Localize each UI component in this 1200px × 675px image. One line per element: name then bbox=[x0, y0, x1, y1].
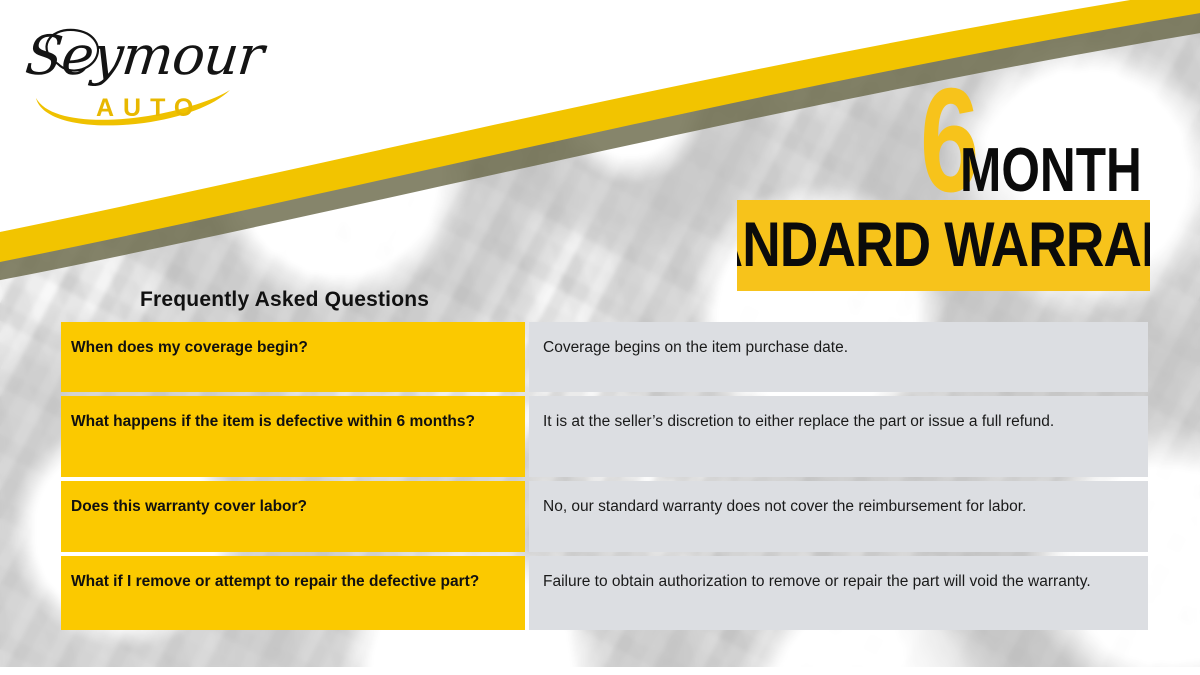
faq-answer-text: Failure to obtain authorization to remov… bbox=[543, 572, 1136, 593]
table-row: When does my coverage begin? Coverage be… bbox=[61, 322, 1148, 392]
faq-answer-text: Coverage begins on the item purchase dat… bbox=[543, 338, 1136, 359]
duration-headline: 6 MONTH bbox=[920, 78, 1188, 198]
table-row: What happens if the item is defective wi… bbox=[61, 396, 1148, 477]
faq-answer-cell: Coverage begins on the item purchase dat… bbox=[529, 322, 1148, 392]
faq-answer-cell: No, our standard warranty does not cover… bbox=[529, 481, 1148, 552]
faq-question-text: Does this warranty cover labor? bbox=[71, 497, 307, 517]
faq-answer-text: No, our standard warranty does not cover… bbox=[543, 497, 1136, 518]
faq-question-text: What if I remove or attempt to repair th… bbox=[71, 572, 479, 592]
faq-question-cell: What happens if the item is defective wi… bbox=[61, 396, 525, 477]
white-footer-strip bbox=[0, 667, 1200, 675]
faq-answer-cell: Failure to obtain authorization to remov… bbox=[529, 556, 1148, 630]
faq-table: When does my coverage begin? Coverage be… bbox=[61, 322, 1148, 630]
logo-auto-text: AUTO bbox=[96, 94, 202, 123]
logo-script-text: Seymour bbox=[23, 24, 266, 87]
faq-question-cell: What if I remove or attempt to repair th… bbox=[61, 556, 525, 630]
seymour-auto-logo: Seymour AUTO bbox=[18, 20, 248, 130]
faq-question-text: When does my coverage begin? bbox=[71, 338, 308, 358]
table-row: What if I remove or attempt to repair th… bbox=[61, 556, 1148, 630]
standard-warranty-banner: STANDARD WARRANTY bbox=[737, 200, 1150, 291]
duration-unit: MONTH bbox=[960, 146, 1142, 196]
banner-title-text: STANDARD WARRANTY bbox=[737, 214, 1150, 277]
faq-heading: Frequently Asked Questions bbox=[140, 288, 429, 312]
faq-answer-text: It is at the seller’s discretion to eith… bbox=[543, 412, 1136, 433]
faq-question-cell: Does this warranty cover labor? bbox=[61, 481, 525, 552]
table-row: Does this warranty cover labor? No, our … bbox=[61, 481, 1148, 552]
faq-answer-cell: It is at the seller’s discretion to eith… bbox=[529, 396, 1148, 477]
warranty-slide: Seymour AUTO 6 MONTH STANDARD WARRANTY F… bbox=[0, 0, 1200, 675]
faq-question-text: What happens if the item is defective wi… bbox=[71, 412, 475, 432]
faq-question-cell: When does my coverage begin? bbox=[61, 322, 525, 392]
